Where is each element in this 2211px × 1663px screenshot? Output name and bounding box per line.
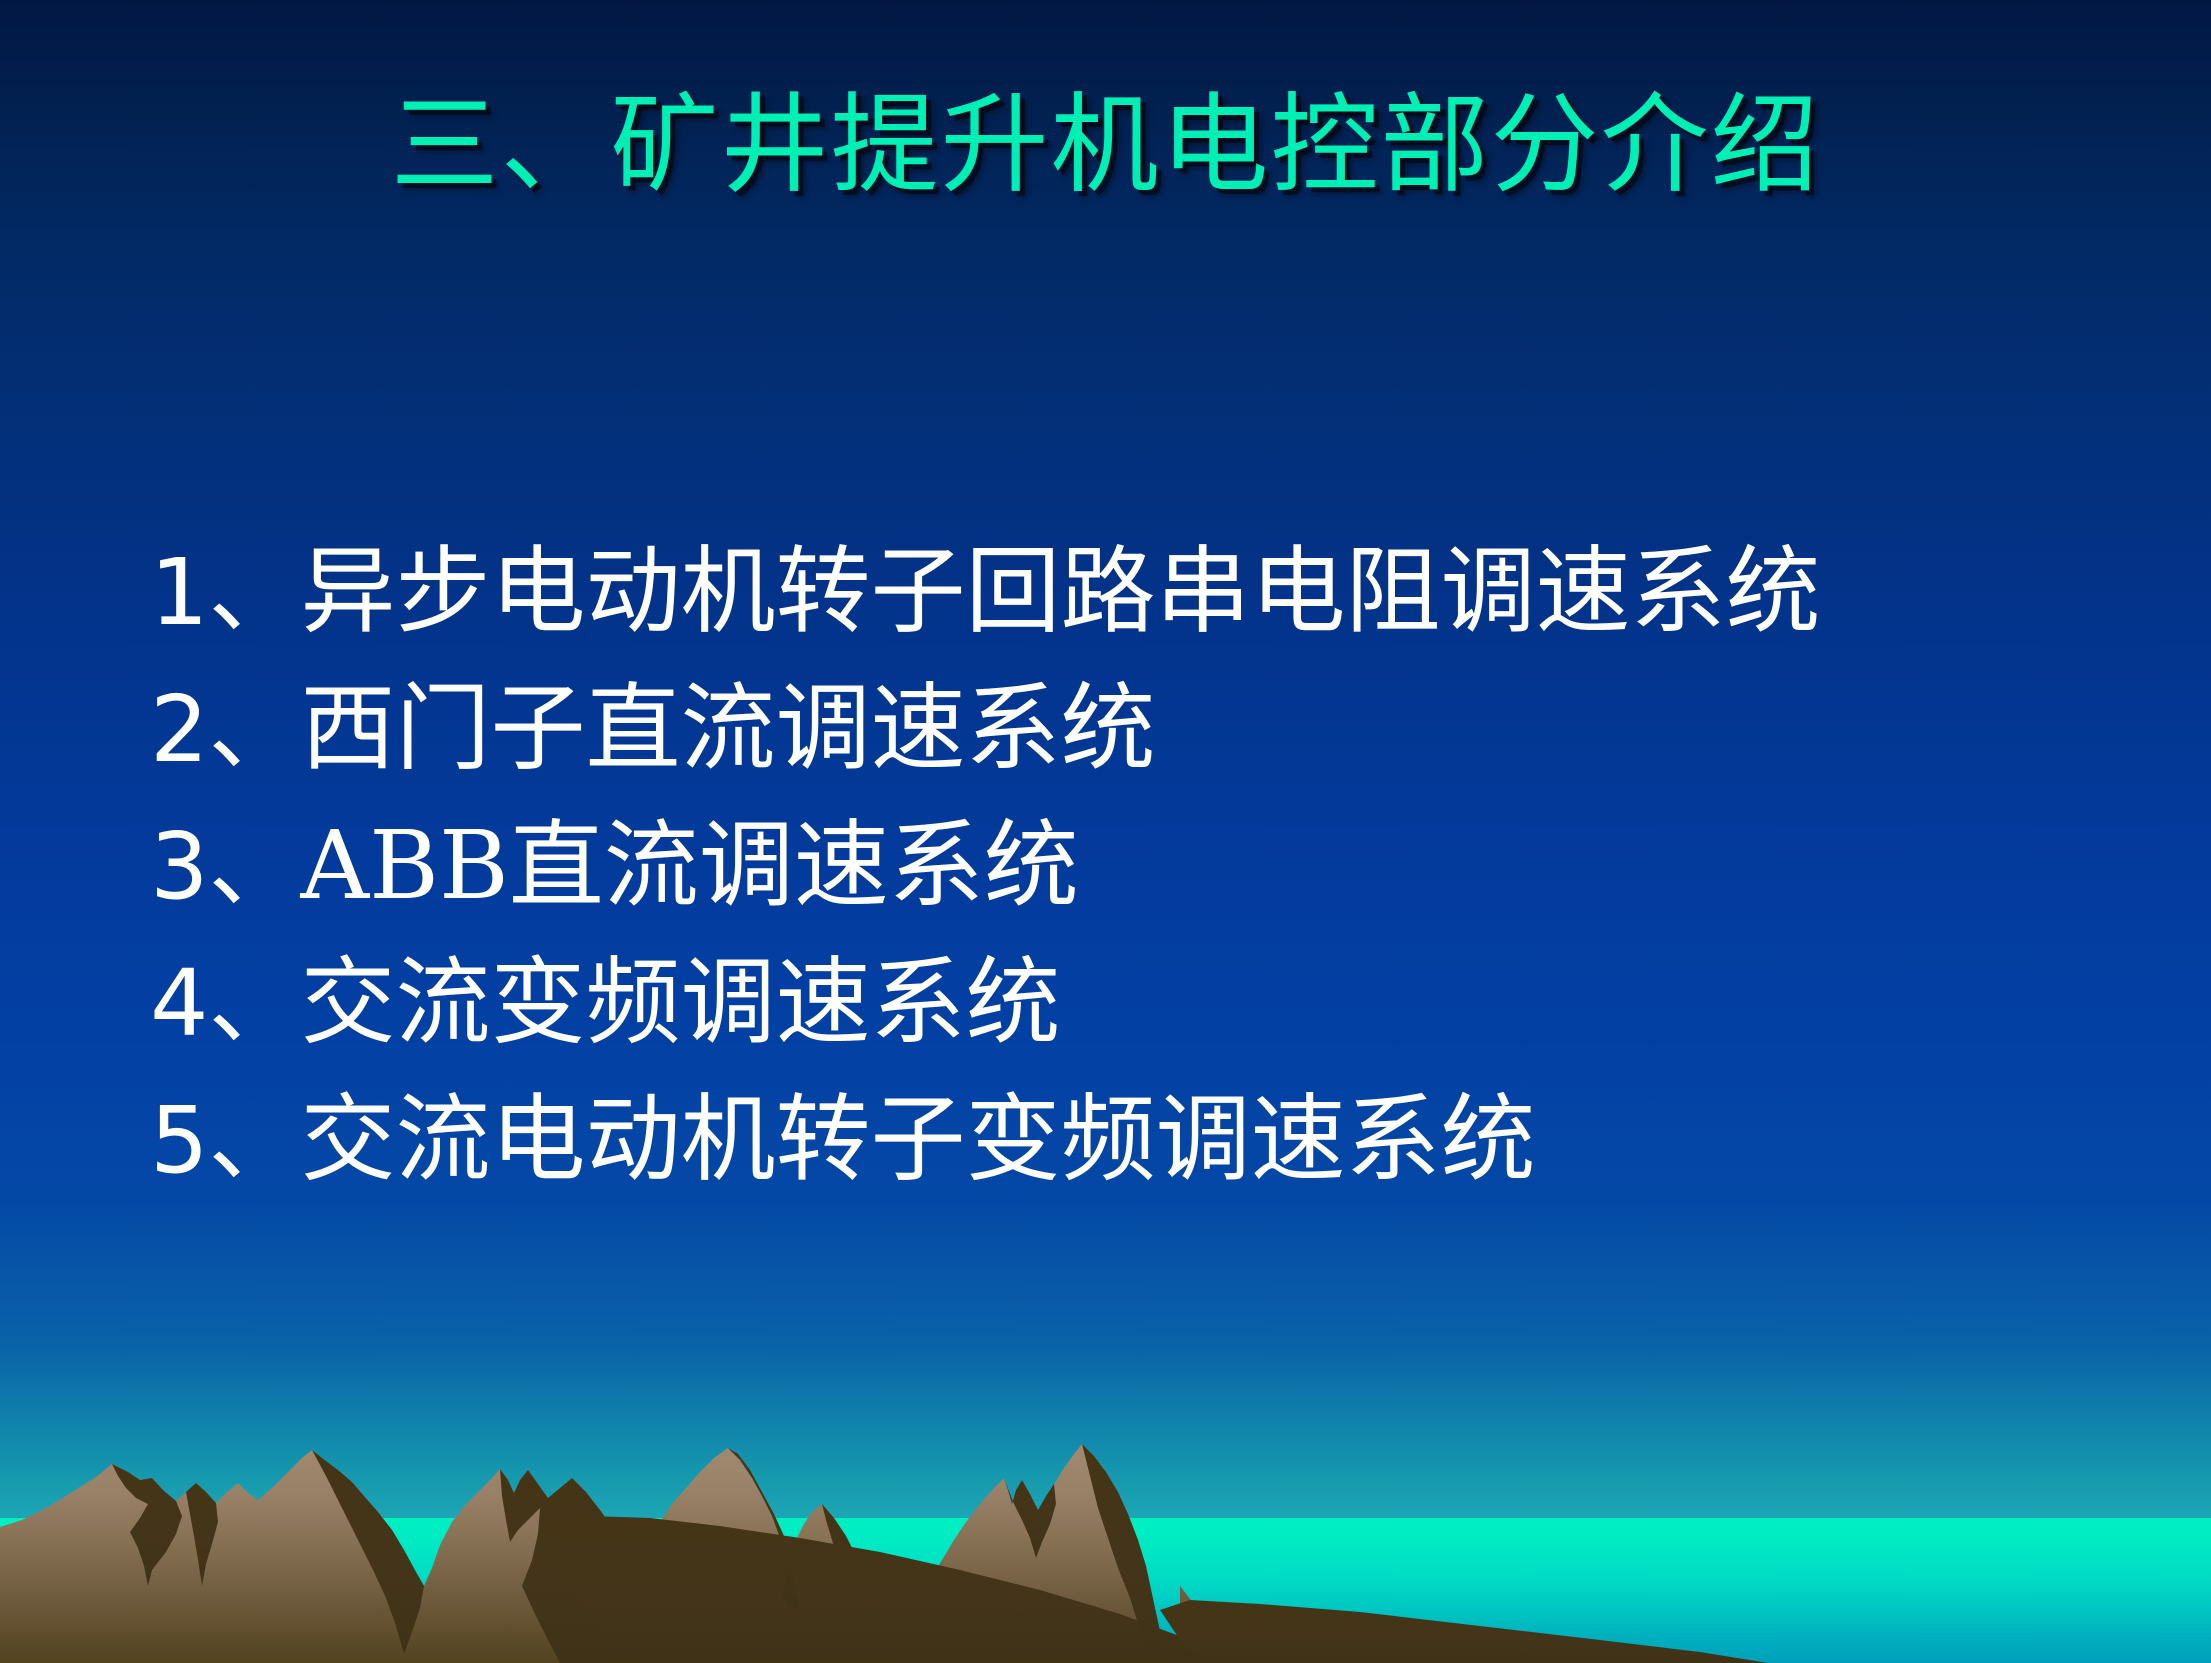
mountain-silhouette [0,1400,2211,1663]
list-item-number: 3、 [150,813,301,920]
slide-body-list: 1、异步电动机转子回路串电阻调速系统 2、西门子直流调速系统 3、ABB直流调速… [150,524,2100,1209]
list-item-label: 交流变频调速系统 [301,948,1061,1058]
list-item: 1、异步电动机转子回路串电阻调速系统 [150,524,2100,661]
list-item: 2、西门子直流调速系统 [150,661,2100,798]
list-item: 3、ABB直流调速系统 [150,798,2100,935]
list-item: 5、交流电动机转子变频调速系统 [150,1072,2100,1209]
list-item-label: ABB直流调速系统 [301,811,1079,921]
presentation-slide: 三、矿井提升机电控部分介绍 1、异步电动机转子回路串电阻调速系统 2、西门子直流… [0,0,2211,1663]
list-item: 4、交流变频调速系统 [150,935,2100,1072]
list-item-label: 异步电动机转子回路串电阻调速系统 [301,537,1821,647]
list-item-label: 交流电动机转子变频调速系统 [301,1085,1536,1195]
list-item-number: 2、 [150,676,301,783]
list-item-number: 1、 [150,539,301,646]
list-item-number: 4、 [150,950,301,1057]
list-item-label: 西门子直流调速系统 [301,674,1156,784]
list-item-number: 5、 [150,1087,301,1194]
